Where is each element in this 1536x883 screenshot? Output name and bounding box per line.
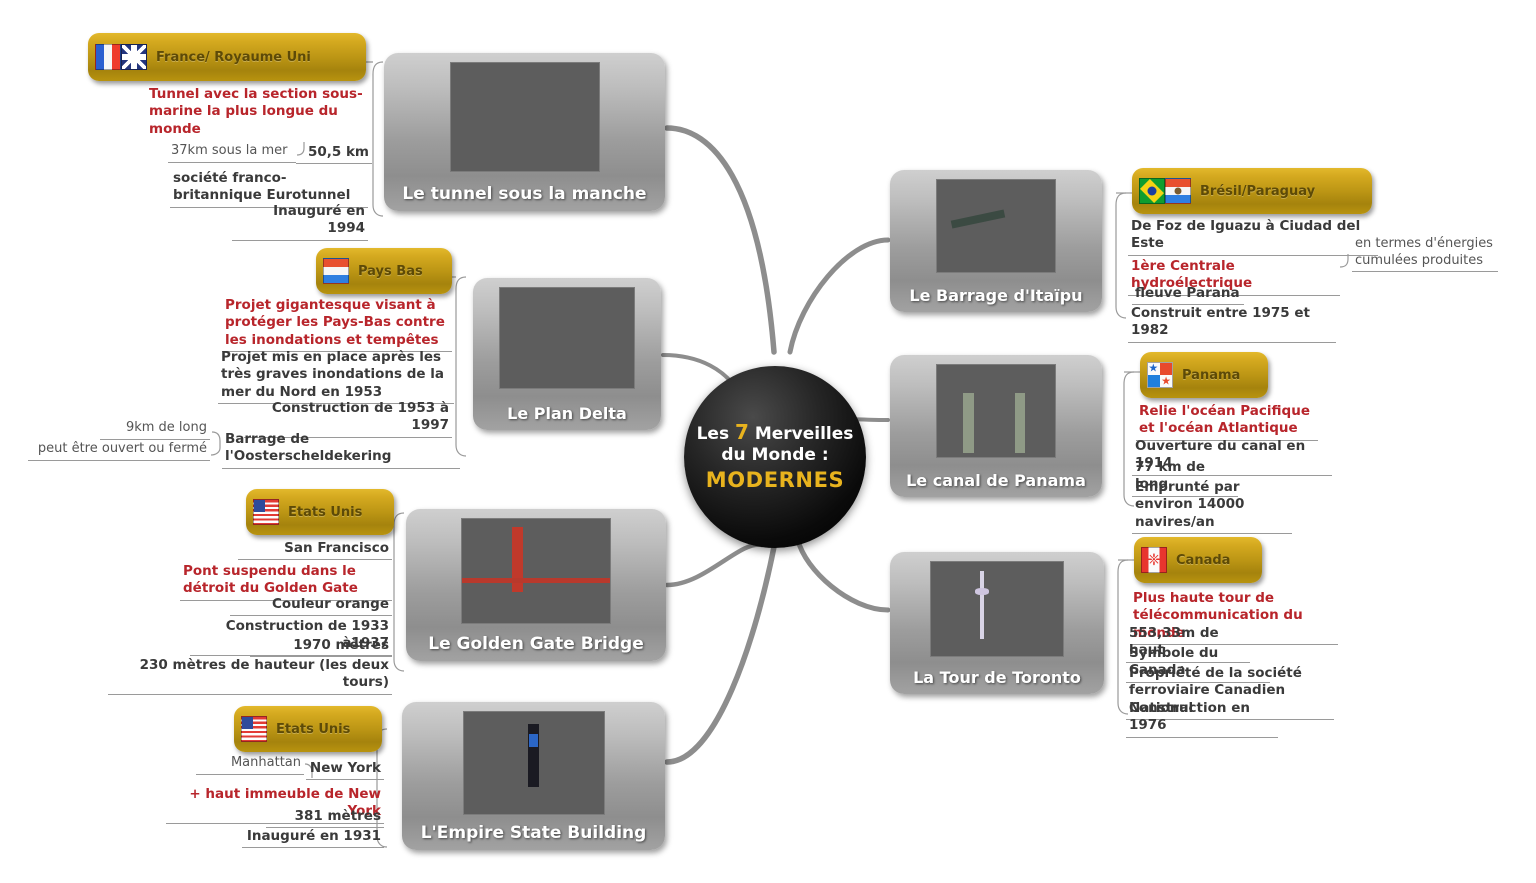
canada-flag bbox=[1141, 547, 1167, 573]
leaf-itaipu-4[interactable]: Construit entre 1975 et 1982 bbox=[1128, 305, 1336, 343]
united-kingdom-flag bbox=[121, 44, 147, 70]
leaf-gg-1[interactable]: Pont suspendu dans le détroit du Golden … bbox=[180, 563, 392, 601]
paraguay-flag bbox=[1165, 178, 1191, 204]
central-topic[interactable]: Les 7 Merveilles du Monde : MODERNES bbox=[684, 366, 866, 548]
panama-red-star-icon: ★ bbox=[1161, 376, 1171, 387]
mindmap-canvas: Les 7 Merveilles du Monde : MODERNES Fra… bbox=[0, 0, 1536, 883]
badge-label: Etats Unis bbox=[276, 722, 350, 737]
leaf-delta-3[interactable]: Barrage de l'Oosterscheldekering bbox=[222, 431, 460, 469]
flag-group bbox=[241, 716, 267, 742]
card-panama-canal[interactable]: Le canal de Panama bbox=[890, 355, 1102, 497]
leaf-delta-5[interactable]: peut être ouvert ou fermé bbox=[28, 441, 210, 461]
delta-works-photo bbox=[499, 287, 635, 389]
leaf-esb-0[interactable]: Manhattan bbox=[196, 755, 304, 775]
leaf-gg-4[interactable]: 1970 mètres bbox=[250, 637, 392, 657]
leaf-gg-0[interactable]: San Francisco bbox=[238, 540, 392, 560]
brazil-flag bbox=[1139, 178, 1165, 204]
flag-group bbox=[323, 258, 349, 284]
badge-label: Brésil/Paraguay bbox=[1200, 184, 1315, 199]
center-line-3: MODERNES bbox=[706, 468, 845, 494]
leaf-delta-4[interactable]: 9km de long bbox=[100, 420, 210, 440]
flag-group bbox=[253, 499, 279, 525]
leaf-gg-2[interactable]: Couleur orange bbox=[230, 596, 392, 616]
card-empire-state[interactable]: L'Empire State Building bbox=[402, 702, 665, 850]
france-flag bbox=[95, 44, 121, 70]
leaf-delta-1[interactable]: Projet mis en place après les très grave… bbox=[218, 349, 454, 404]
badge-label: Canada bbox=[1176, 553, 1230, 568]
card-tunnel[interactable]: Le tunnel sous la manche bbox=[384, 53, 665, 211]
leaf-itaipu-0[interactable]: De Foz de Iguazu à Ciudad del Este bbox=[1128, 218, 1378, 256]
leaf-panama-0[interactable]: Relie l'océan Pacifique et l'océan Atlan… bbox=[1136, 403, 1318, 441]
card-title: Le tunnel sous la manche bbox=[402, 184, 646, 204]
card-itaipu[interactable]: Le Barrage d'Itaïpu bbox=[890, 170, 1102, 312]
badge-label: Etats Unis bbox=[288, 505, 362, 520]
leaf-tunnel-4[interactable]: Inauguré en 1994 bbox=[232, 203, 368, 241]
leaf-panama-3[interactable]: Emprunté par environ 14000 navires/an bbox=[1132, 479, 1292, 534]
badge-canada[interactable]: Canada bbox=[1134, 537, 1262, 583]
card-title: L'Empire State Building bbox=[421, 823, 647, 843]
leaf-tunnel-0[interactable]: Tunnel avec la section sous-marine la pl… bbox=[146, 86, 368, 140]
card-title: Le Golden Gate Bridge bbox=[428, 634, 644, 654]
card-golden-gate[interactable]: Le Golden Gate Bridge bbox=[406, 509, 666, 661]
center-line-2: du Monde : bbox=[721, 445, 828, 466]
leaf-itaipu-2[interactable]: en termes d'énergies cumulées produites bbox=[1352, 236, 1498, 272]
badge-etats-unis-gg[interactable]: Etats Unis bbox=[246, 489, 394, 535]
leaf-tunnel-3[interactable]: société franco-britannique Eurotunnel bbox=[170, 170, 368, 208]
channel-tunnel-photo bbox=[450, 62, 600, 172]
usa-flag bbox=[253, 499, 279, 525]
golden-gate-bridge-photo bbox=[461, 518, 611, 624]
netherlands-flag bbox=[323, 258, 349, 284]
leaf-itaipu-3[interactable]: fleuve Parana bbox=[1132, 285, 1244, 305]
badge-label: Pays Bas bbox=[358, 264, 423, 279]
card-title: Le Plan Delta bbox=[507, 404, 627, 423]
flag-group bbox=[1141, 547, 1167, 573]
leaf-tunnel-2[interactable]: 50,5 km bbox=[296, 144, 372, 164]
leaf-esb-4[interactable]: Inauguré en 1931 bbox=[242, 828, 384, 848]
leaf-esb-3[interactable]: 381 mètres bbox=[266, 808, 384, 828]
leaf-delta-0[interactable]: Projet gigantesque visant à protéger les… bbox=[222, 297, 452, 352]
badge-france-royaume-uni[interactable]: France/ Royaume Uni bbox=[88, 33, 366, 81]
card-title: La Tour de Toronto bbox=[913, 668, 1081, 687]
badge-bresil-paraguay[interactable]: Brésil/Paraguay bbox=[1132, 168, 1372, 214]
flag-group bbox=[1139, 178, 1191, 204]
badge-label: Panama bbox=[1182, 368, 1240, 383]
center-line-1: Les 7 Merveilles bbox=[697, 420, 854, 445]
cn-tower-toronto-photo bbox=[930, 561, 1064, 657]
itaipu-dam-photo bbox=[936, 179, 1056, 273]
panama-canal-photo bbox=[936, 364, 1056, 458]
badge-etats-unis-esb[interactable]: Etats Unis bbox=[234, 706, 382, 752]
card-title: Le Barrage d'Itaïpu bbox=[909, 286, 1082, 305]
leaf-esb-1[interactable]: New York bbox=[306, 760, 384, 780]
usa-flag bbox=[241, 716, 267, 742]
card-plan-delta[interactable]: Le Plan Delta bbox=[473, 278, 661, 430]
leaf-gg-5[interactable]: 230 mètres de hauteur (les deux tours) bbox=[108, 657, 392, 695]
flag-group: ★★ bbox=[1147, 362, 1173, 388]
badge-label: France/ Royaume Uni bbox=[156, 50, 311, 65]
card-tour-toronto[interactable]: La Tour de Toronto bbox=[890, 552, 1104, 694]
empire-state-building-photo bbox=[463, 711, 605, 815]
badge-pays-bas[interactable]: Pays Bas bbox=[316, 248, 452, 294]
badge-panama[interactable]: ★★ Panama bbox=[1140, 352, 1268, 398]
card-title: Le canal de Panama bbox=[906, 471, 1086, 490]
panama-flag: ★★ bbox=[1147, 362, 1173, 388]
panama-blue-star-icon: ★ bbox=[1148, 363, 1158, 374]
leaf-toronto-4[interactable]: Construction en 1976 bbox=[1126, 700, 1278, 738]
flag-group bbox=[95, 44, 147, 70]
leaf-tunnel-1[interactable]: 37km sous la mer bbox=[168, 143, 296, 163]
